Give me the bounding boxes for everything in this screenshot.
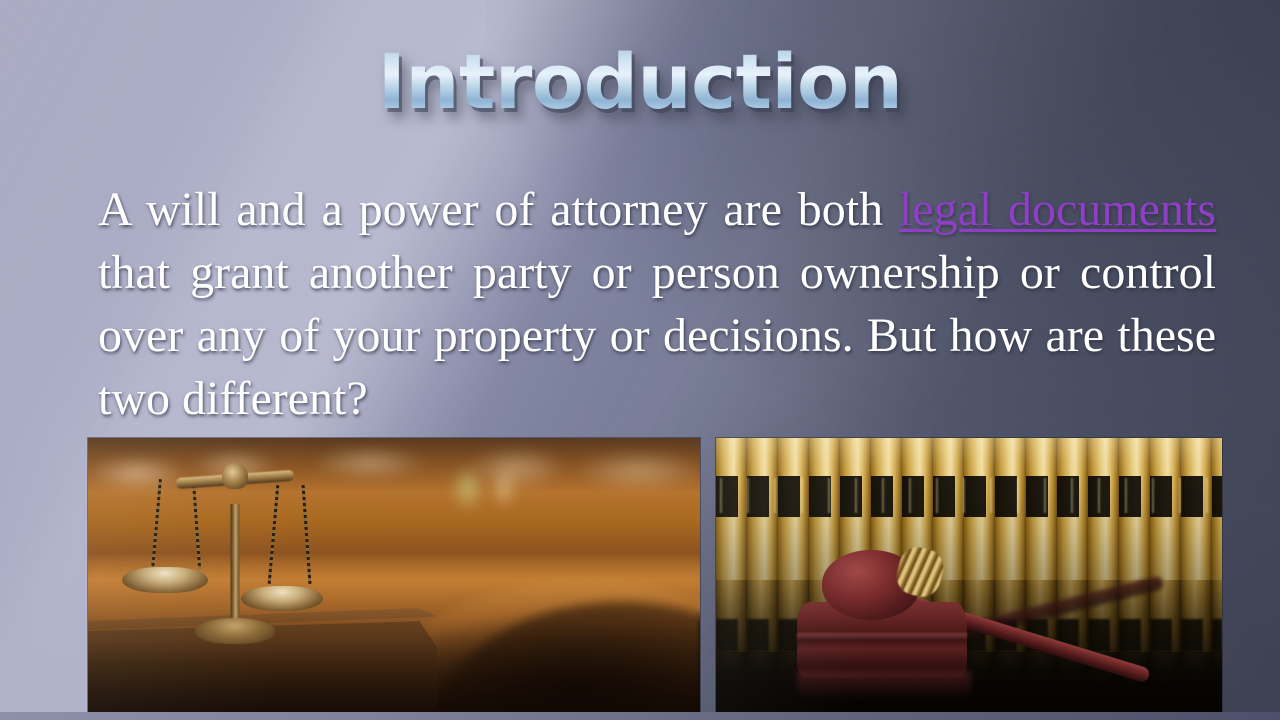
gavel-block-reflection [797,671,971,699]
gavel-block-ring [797,633,967,641]
law-book-label-text [716,478,1222,514]
scale-finial-ornament [222,463,248,489]
gavel-and-law-books-photo [716,438,1222,712]
scale-pan-left [122,567,208,593]
body-text-before-link: A will and a power of attorney are both [98,183,899,236]
scale-center-post [230,504,239,636]
scales-photo-content [88,438,700,712]
body-paragraph: A will and a power of attorney are both … [98,178,1216,430]
scale-base [195,618,275,644]
slide-bottom-strip [0,712,1280,720]
presentation-slide: Introduction A will and a power of attor… [0,0,1280,720]
body-text-after-link: that grant another party or person owner… [98,246,1216,425]
slide-body-text: A will and a power of attorney are both … [98,178,1216,430]
gavel-photo-content [716,438,1222,712]
image-row [0,438,1280,712]
scales-of-justice-photo [88,438,700,712]
scale-pan-right [241,586,323,611]
legal-documents-link[interactable]: legal documents [899,183,1216,236]
courtroom-blurred-shelves [88,438,700,564]
